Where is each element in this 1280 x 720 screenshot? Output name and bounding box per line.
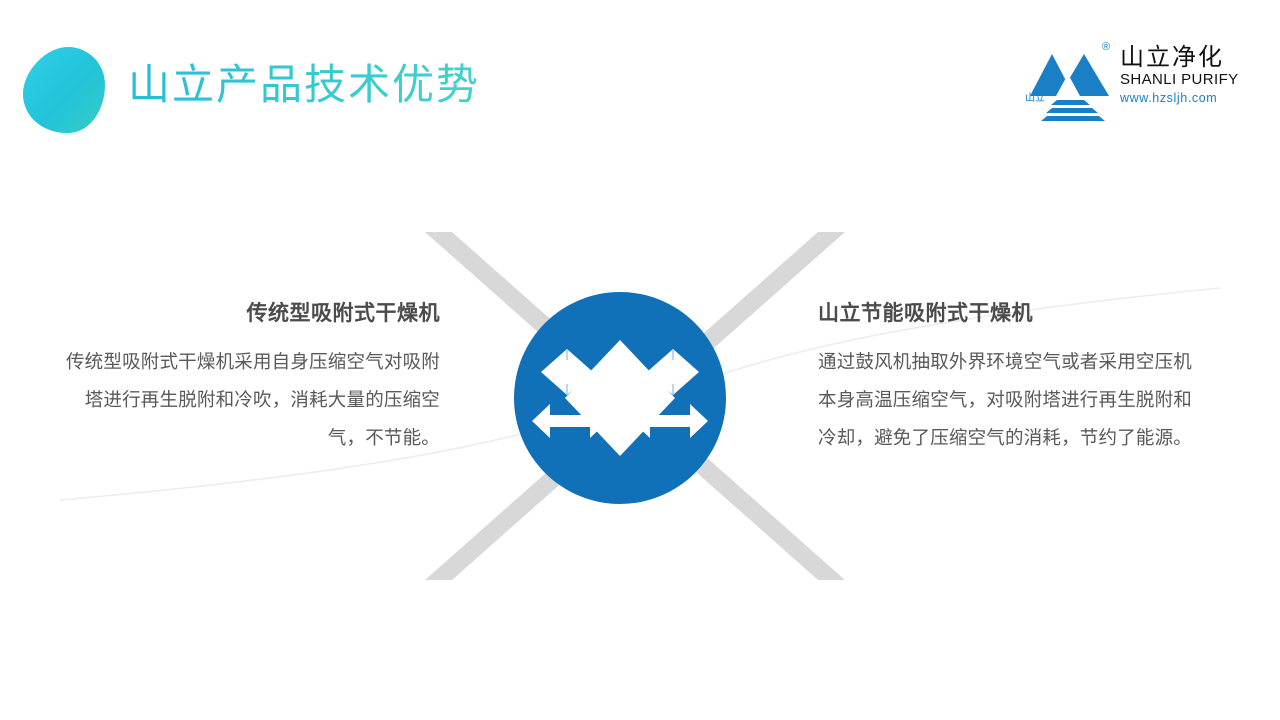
brand-name-en: SHANLI PURIFY	[1120, 71, 1252, 90]
brand-mark-label: 山立	[1025, 94, 1045, 104]
page-title: 山立产品技术优势	[128, 62, 480, 108]
registered-trademark-icon: ®	[1102, 42, 1110, 53]
column-traditional: 传统型吸附式干燥机 传统型吸附式干燥机采用自身压缩空气对吸附塔进行再生脱附和冷吹…	[48, 300, 440, 458]
exchange-diamond-arrows-icon	[514, 292, 726, 504]
brand-website-url: www.hzsljh.com	[1120, 90, 1252, 106]
brand-logo: 山立 ® 山立净化 SHANLI PURIFY www.hzsljh.com	[1024, 40, 1252, 124]
brand-name-cn: 山立净化	[1120, 44, 1252, 71]
column-shanli-body: 通过鼓风机抽取外界环境空气或者采用空压机本身高温压缩空气，对吸附塔进行再生脱附和…	[818, 344, 1210, 458]
slide-canvas: 山立产品技术优势 山立 ® 山立净化 SHANLI PURIFY www.hzs…	[0, 0, 1280, 720]
header-decor-blob	[20, 44, 108, 136]
brand-text-block: 山立净化 SHANLI PURIFY www.hzsljh.com	[1120, 44, 1252, 106]
mountain-peaks-logo-icon	[1024, 44, 1112, 122]
column-traditional-body: 传统型吸附式干燥机采用自身压缩空气对吸附塔进行再生脱附和冷吹，消耗大量的压缩空气…	[48, 344, 440, 458]
column-traditional-heading: 传统型吸附式干燥机	[48, 300, 440, 326]
column-shanli: 山立节能吸附式干燥机 通过鼓风机抽取外界环境空气或者采用空压机本身高温压缩空气，…	[818, 300, 1210, 458]
column-shanli-heading: 山立节能吸附式干燥机	[818, 300, 1210, 326]
